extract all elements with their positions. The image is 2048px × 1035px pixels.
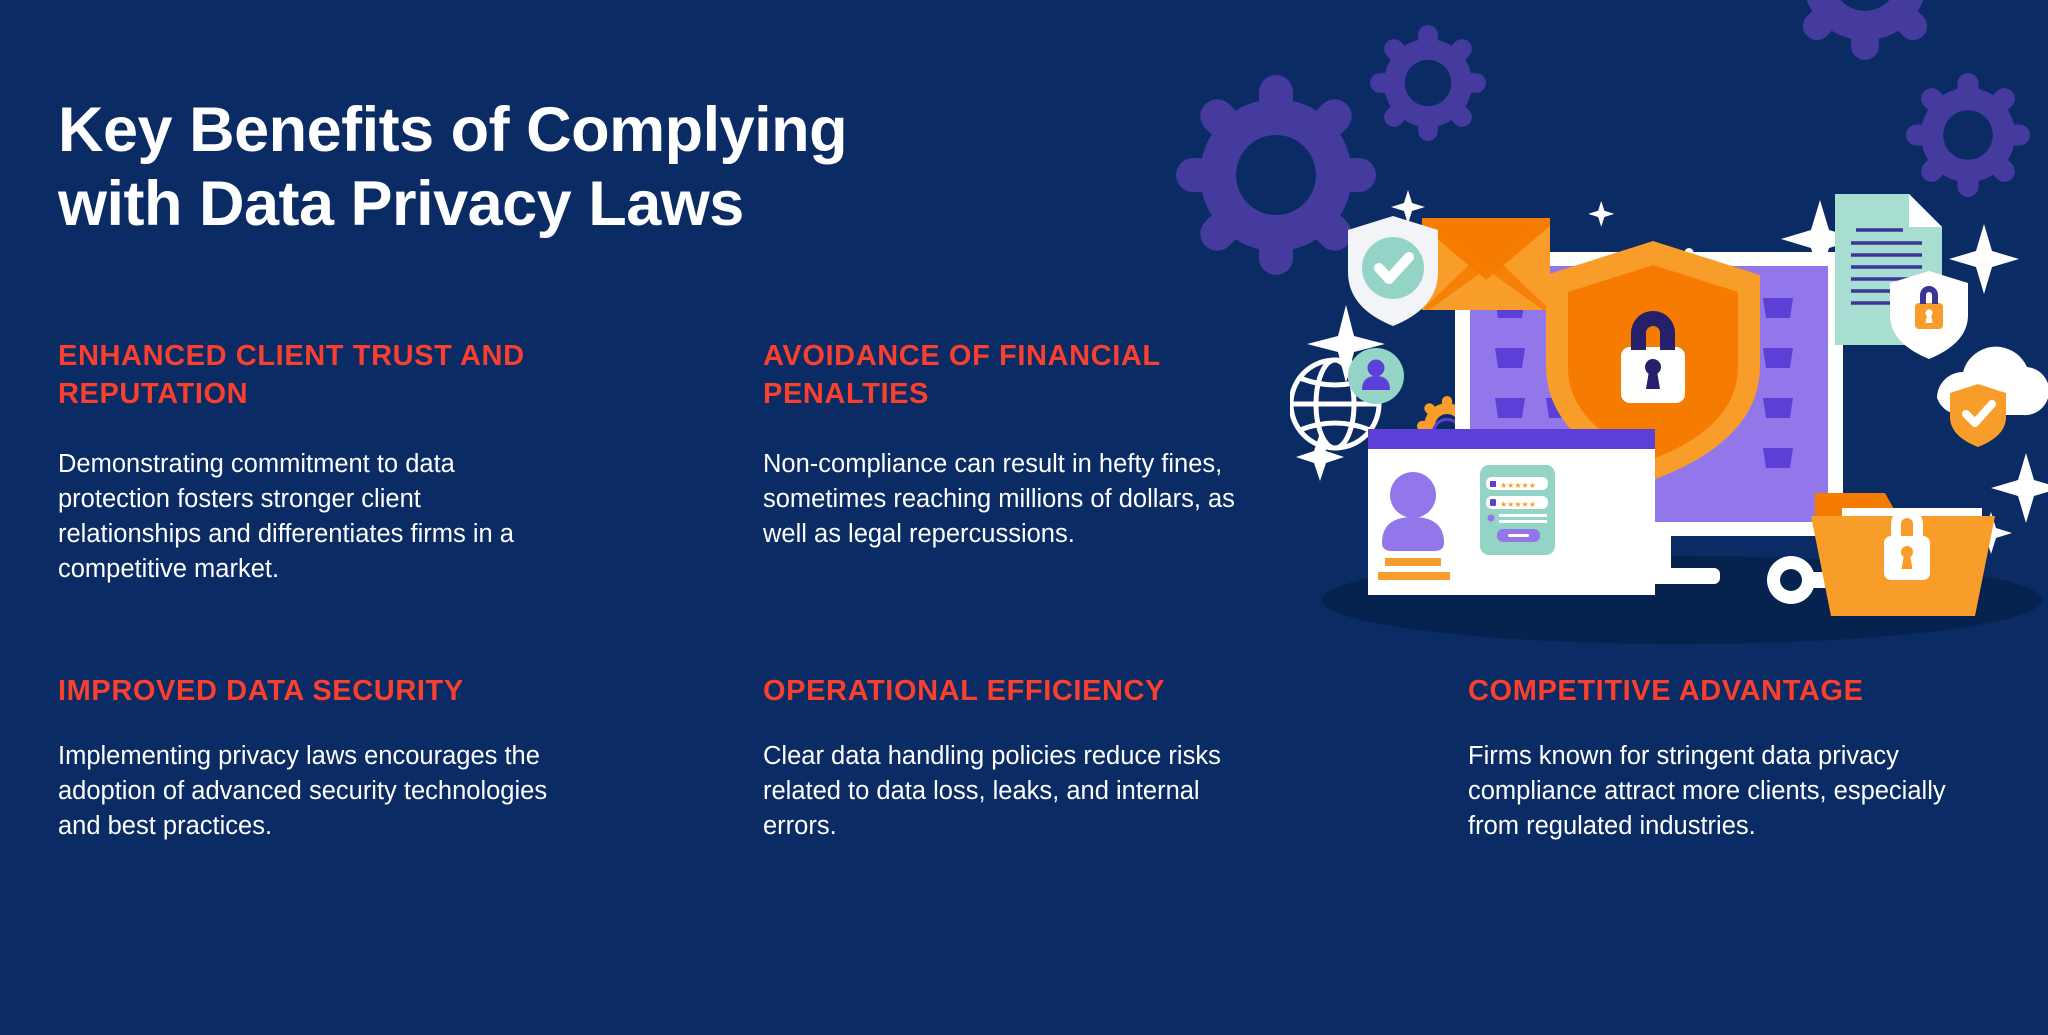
document-lock-icon (1835, 194, 1968, 359)
envelope-icon (1422, 218, 1550, 310)
benefit-body: Clear data handling policies reduce risk… (763, 739, 1263, 844)
page-title-line-1: Key Benefits of Complying (58, 94, 1118, 168)
benefit-title: OPERATIONAL EFFICIENCY (763, 673, 1296, 711)
page-title: Key Benefits of Complying with Data Priv… (58, 94, 1118, 241)
benefit-title: COMPETITIVE ADVANTAGE (1468, 673, 2001, 711)
benefits-row-bottom: IMPROVED DATA SECURITY Implementing priv… (58, 673, 2018, 843)
benefit-title: ENHANCED CLIENT TRUST AND REPUTATION (58, 338, 591, 413)
benefit-card-avoidance-of-financial-penalties: AVOIDANCE OF FINANCIAL PENALTIES Non-com… (763, 338, 1296, 587)
benefit-card-enhanced-client-trust: ENHANCED CLIENT TRUST AND REPUTATION Dem… (58, 338, 591, 587)
benefit-body: Non-compliance can result in hefty fines… (763, 447, 1263, 552)
benefit-card-competitive-advantage: COMPETITIVE ADVANTAGE Firms known for st… (1468, 673, 2001, 843)
benefit-body: Firms known for stringent data privacy c… (1468, 739, 1968, 844)
benefit-card-operational-efficiency: OPERATIONAL EFFICIENCY Clear data handli… (763, 673, 1296, 843)
infographic-canvas: Key Benefits of Complying with Data Priv… (0, 0, 2048, 1035)
benefits-row-top: ENHANCED CLIENT TRUST AND REPUTATION Dem… (58, 338, 2018, 587)
benefit-title: AVOIDANCE OF FINANCIAL PENALTIES (763, 338, 1296, 413)
page-title-line-2: with Data Privacy Laws (58, 168, 1118, 242)
benefit-body: Demonstrating commitment to data protect… (58, 447, 558, 587)
benefit-body: Implementing privacy laws encourages the… (58, 739, 558, 844)
benefit-card-improved-data-security: IMPROVED DATA SECURITY Implementing priv… (58, 673, 591, 843)
benefits-grid: ENHANCED CLIENT TRUST AND REPUTATION Dem… (58, 338, 2018, 844)
gear-small-upper (1370, 25, 1486, 141)
benefit-title: IMPROVED DATA SECURITY (58, 673, 591, 711)
gear-corner-top (1783, 0, 1947, 60)
